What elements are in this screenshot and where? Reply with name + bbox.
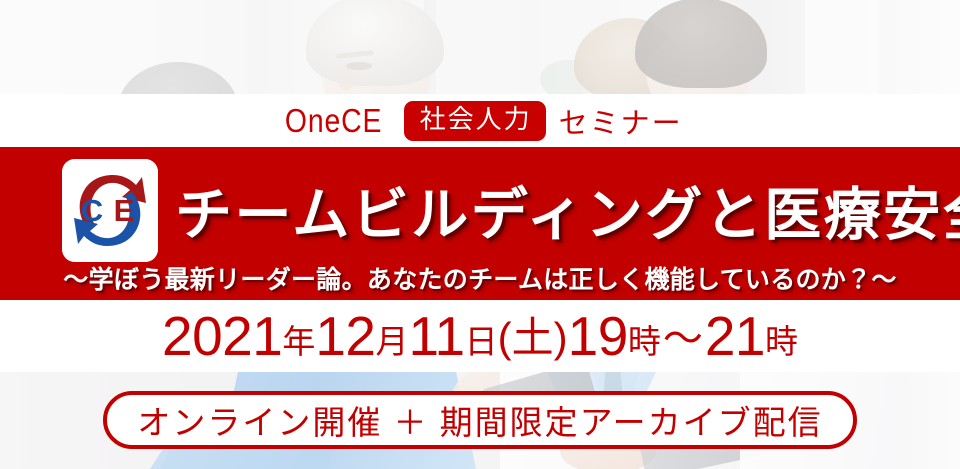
date-day-unit: 日 <box>465 325 498 358</box>
seminar-label: セミナー <box>559 100 683 142</box>
date-year-number: 2021 <box>162 309 282 364</box>
date-month-number: 12 <box>315 309 375 364</box>
seminar-banner: OneCE 社会人力 セミナー C E チームビルディングと医療安全 〜学ぼう最… <box>0 0 960 469</box>
time-end-hour: 21 <box>705 309 765 364</box>
svg-text:E: E <box>114 193 135 228</box>
category-badge: 社会人力 <box>404 101 546 140</box>
time-end-unit: 時 <box>765 325 798 358</box>
date-weekday: (土) <box>498 317 568 359</box>
brand-name: OneCE <box>285 102 382 140</box>
eyebrow-row: OneCE 社会人力 セミナー <box>0 94 960 148</box>
date-year-unit: 年 <box>282 325 315 358</box>
svg-text:C: C <box>81 193 103 228</box>
delivery-format-box: オンライン開催 ＋ 期間限定アーカイブ配信 <box>103 391 857 449</box>
delivery-format-text: オンライン開催 ＋ 期間限定アーカイブ配信 <box>137 396 822 444</box>
date-month-unit: 月 <box>376 325 409 358</box>
page-title: チームビルディングと医療安全 <box>175 157 945 262</box>
top-photo-fade-overlay <box>0 0 960 96</box>
title-red-band: C E チームビルディングと医療安全 〜学ぼう最新リーダー論。あなたのチームは正… <box>0 147 960 300</box>
ce-cycle-icon: C E <box>62 159 158 262</box>
onece-logo: C E <box>62 159 158 262</box>
event-date: 2021 年 12 月 11 日 (土) 19 時 〜 21 時 <box>0 300 960 372</box>
time-start-unit: 時 <box>628 325 661 358</box>
time-range-mark: 〜 <box>661 319 705 359</box>
top-photo-strip <box>0 0 960 96</box>
time-start-hour: 19 <box>568 309 628 364</box>
date-day-number: 11 <box>409 309 465 364</box>
page-subtitle: 〜学ぼう最新リーダー論。あなたのチームは正しく機能しているのか？〜 <box>0 259 960 297</box>
